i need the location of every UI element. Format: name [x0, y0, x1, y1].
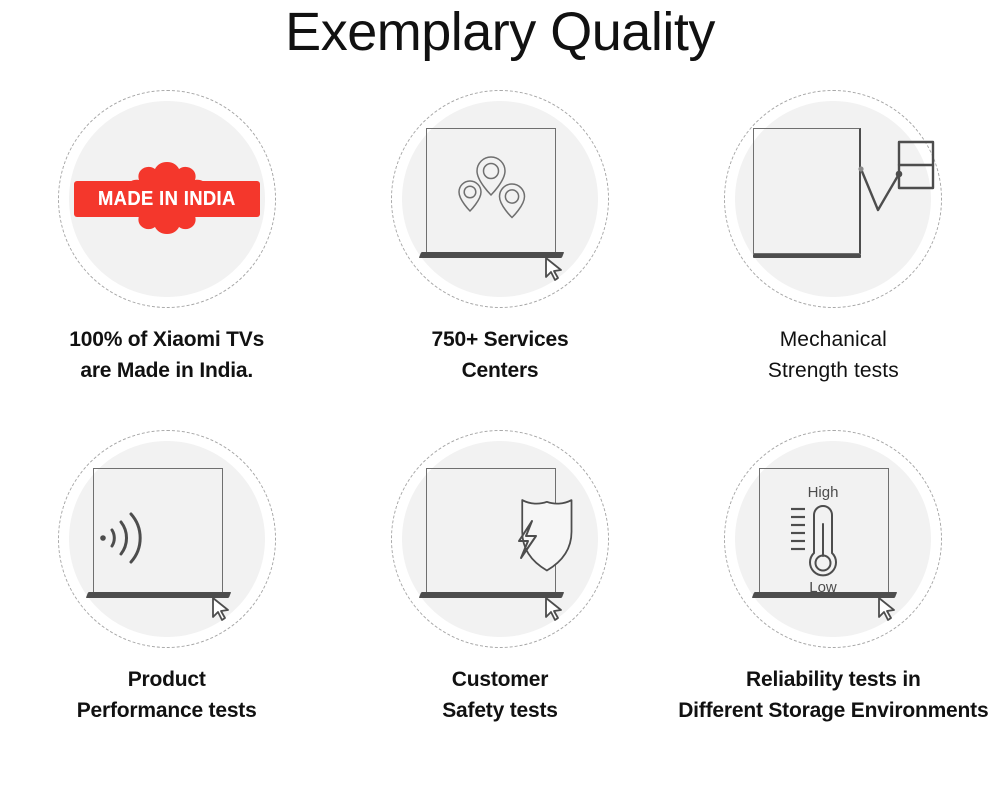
- feature-caption: Reliability tests in Different Storage E…: [678, 664, 988, 726]
- caption-line-1: Customer: [442, 664, 558, 695]
- tv-drop-weight-icon: [753, 124, 913, 274]
- caption-line-1: Reliability tests in: [678, 664, 988, 695]
- tv-screen: [426, 468, 556, 594]
- tv-screen: [93, 468, 223, 594]
- feature-caption: 100% of Xiaomi TVs are Made in India.: [69, 324, 264, 386]
- caption-line-1: 100% of Xiaomi TVs: [69, 324, 264, 355]
- tv-stand-bar: [752, 592, 897, 598]
- tv-screen: [426, 128, 556, 254]
- icon-disc: MADE IN INDIA: [69, 101, 265, 297]
- exemplary-quality-page: Exemplary Quality MADE IN INDIA 100% of …: [0, 0, 1000, 809]
- dashed-ring: [391, 90, 609, 308]
- feature-caption: 750+ Services Centers: [432, 324, 569, 386]
- icon-disc: [402, 441, 598, 637]
- icon-disc: High Low: [735, 441, 931, 637]
- caption-line-1: Product: [77, 664, 257, 695]
- tv-shield-bolt-icon: [420, 464, 580, 614]
- tv-stand-bar: [419, 252, 564, 258]
- feature-card-reliability-storage: High Low Reliability tests in Different …: [667, 430, 1000, 726]
- dashed-ring: MADE IN INDIA: [58, 90, 276, 308]
- icon-disc: [69, 441, 265, 637]
- caption-line-1: 750+ Services: [432, 324, 569, 355]
- caption-line-2: Performance tests: [77, 695, 257, 726]
- tv-screen: [753, 128, 861, 254]
- feature-caption: Customer Safety tests: [442, 664, 558, 726]
- cursor-arrow-icon: [544, 596, 566, 622]
- tv-thermometer-icon: High Low: [753, 464, 913, 614]
- feature-caption: Product Performance tests: [77, 664, 257, 726]
- made-in-india-badge-icon: MADE IN INDIA: [74, 160, 260, 238]
- caption-line-1: Mechanical: [768, 324, 899, 355]
- feature-grid: MADE IN INDIA 100% of Xiaomi TVs are Mad…: [0, 90, 1000, 726]
- cursor-arrow-icon: [544, 256, 566, 282]
- tv-stand-bar: [85, 592, 230, 598]
- icon-disc: [402, 101, 598, 297]
- dashed-ring: [391, 430, 609, 648]
- tv-screen: [759, 468, 889, 594]
- feature-caption: Mechanical Strength tests: [768, 324, 899, 386]
- caption-line-2: are Made in India.: [69, 355, 264, 386]
- feature-card-made-in-india: MADE IN INDIA 100% of Xiaomi TVs are Mad…: [0, 90, 333, 386]
- feature-card-customer-safety: Customer Safety tests: [333, 430, 666, 726]
- caption-line-2: Safety tests: [442, 695, 558, 726]
- tv-map-pins-icon: [420, 124, 580, 274]
- caption-line-2: Different Storage Environments: [678, 695, 988, 726]
- tv-signal-waves-icon: [87, 464, 247, 614]
- dashed-ring: [724, 90, 942, 308]
- feature-card-service-centers: 750+ Services Centers: [333, 90, 666, 386]
- dashed-ring: High Low: [724, 430, 942, 648]
- feature-card-product-performance: Product Performance tests: [0, 430, 333, 726]
- page-title: Exemplary Quality: [0, 0, 1000, 62]
- caption-line-2: Strength tests: [768, 355, 899, 386]
- badge-label: MADE IN INDIA: [98, 188, 236, 211]
- cursor-arrow-icon: [877, 596, 899, 622]
- tv-stand-bar: [753, 254, 861, 258]
- feature-card-mechanical-strength: Mechanical Strength tests: [667, 90, 1000, 386]
- tv-stand-bar: [419, 592, 564, 598]
- dashed-ring: [58, 430, 276, 648]
- icon-disc: [735, 101, 931, 297]
- cable-joint-dot: [896, 171, 903, 178]
- cursor-arrow-icon: [211, 596, 233, 622]
- caption-line-2: Centers: [432, 355, 569, 386]
